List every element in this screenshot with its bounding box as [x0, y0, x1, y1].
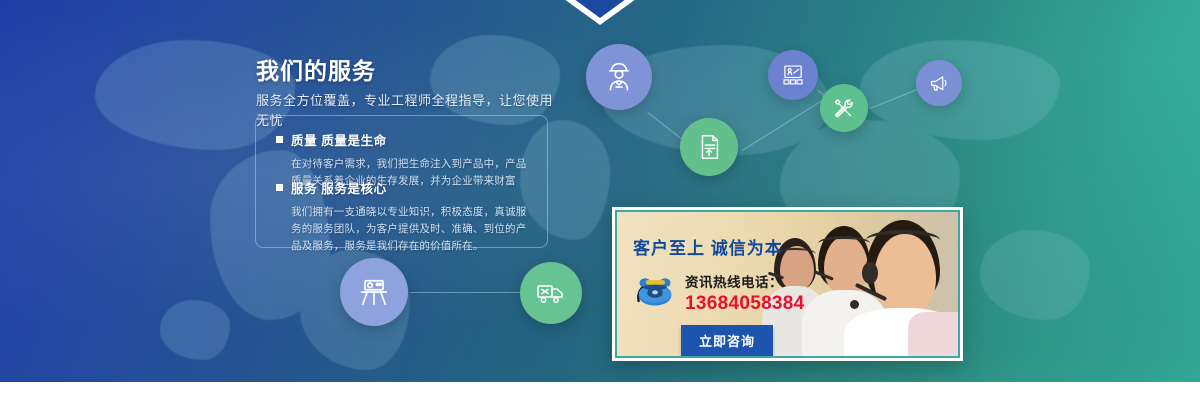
- gradient-background: 我们的服务 服务全方位覆盖，专业工程师全程指导，让您使用无忧 质量 质量是生命 …: [0, 0, 1200, 382]
- service-point-heading-text: 质量 质量是生命: [291, 130, 387, 149]
- promo-hotline-row: 资讯热线电话： 13684058384: [633, 271, 805, 316]
- service-point-service: 服务 服务是核心 我们拥有一支通晓以专业知识，积极态度，真诚服务的服务团队，为客…: [276, 178, 536, 255]
- page-title: 我们的服务: [256, 58, 556, 84]
- service-point-heading: 服务 服务是核心: [276, 178, 536, 197]
- contact-promo-banner[interactable]: 客户至上 诚信为本: [612, 207, 963, 361]
- service-point-body: 我们拥有一支通晓以专业知识，积极态度，真诚服务的服务团队，为客户提供及时、准确、…: [291, 204, 536, 255]
- service-point-heading-text: 服务 服务是核心: [291, 178, 387, 197]
- megaphone-icon: [927, 71, 951, 95]
- telephone-icon: [633, 271, 677, 316]
- promo-inner-frame: 客户至上 诚信为本: [615, 210, 960, 358]
- promo-headline: 客户至上 诚信为本: [633, 234, 805, 259]
- bullet-square-icon: [276, 184, 283, 191]
- service-hero-section: 我们的服务 服务全方位覆盖，专业工程师全程指导，让您使用无忧 质量 质量是生命 …: [0, 0, 1200, 400]
- delivery-truck-icon: [535, 277, 567, 309]
- node-survey[interactable]: [340, 258, 408, 326]
- survey-tripod-icon: [356, 274, 392, 310]
- node-document[interactable]: [680, 118, 738, 176]
- tools-icon: [831, 95, 857, 121]
- node-delivery[interactable]: [520, 262, 582, 324]
- document-upload-icon: [694, 132, 724, 162]
- hotline-label: 资讯热线电话：: [685, 271, 805, 291]
- node-engineer[interactable]: [586, 44, 652, 110]
- node-training[interactable]: [768, 50, 818, 100]
- engineer-icon: [602, 60, 636, 94]
- hotline-number: 13684058384: [685, 293, 805, 315]
- top-chevron-notch-inner: [574, 0, 626, 18]
- promo-text-group: 客户至上 诚信为本: [633, 234, 805, 356]
- node-tools[interactable]: [820, 84, 868, 132]
- promo-hotline-lines: 资讯热线电话： 13684058384: [685, 271, 805, 315]
- consult-now-button[interactable]: 立即咨询: [681, 325, 773, 356]
- bullet-square-icon: [276, 136, 283, 143]
- service-points-panel: 质量 质量是生命 在对待客户需求，我们把生命注入到产品中，产品质量关系着企业的生…: [255, 115, 548, 248]
- service-point-heading: 质量 质量是生命: [276, 130, 536, 149]
- training-board-icon: [780, 62, 806, 88]
- node-announcement[interactable]: [916, 60, 962, 106]
- connector-line: [410, 292, 520, 293]
